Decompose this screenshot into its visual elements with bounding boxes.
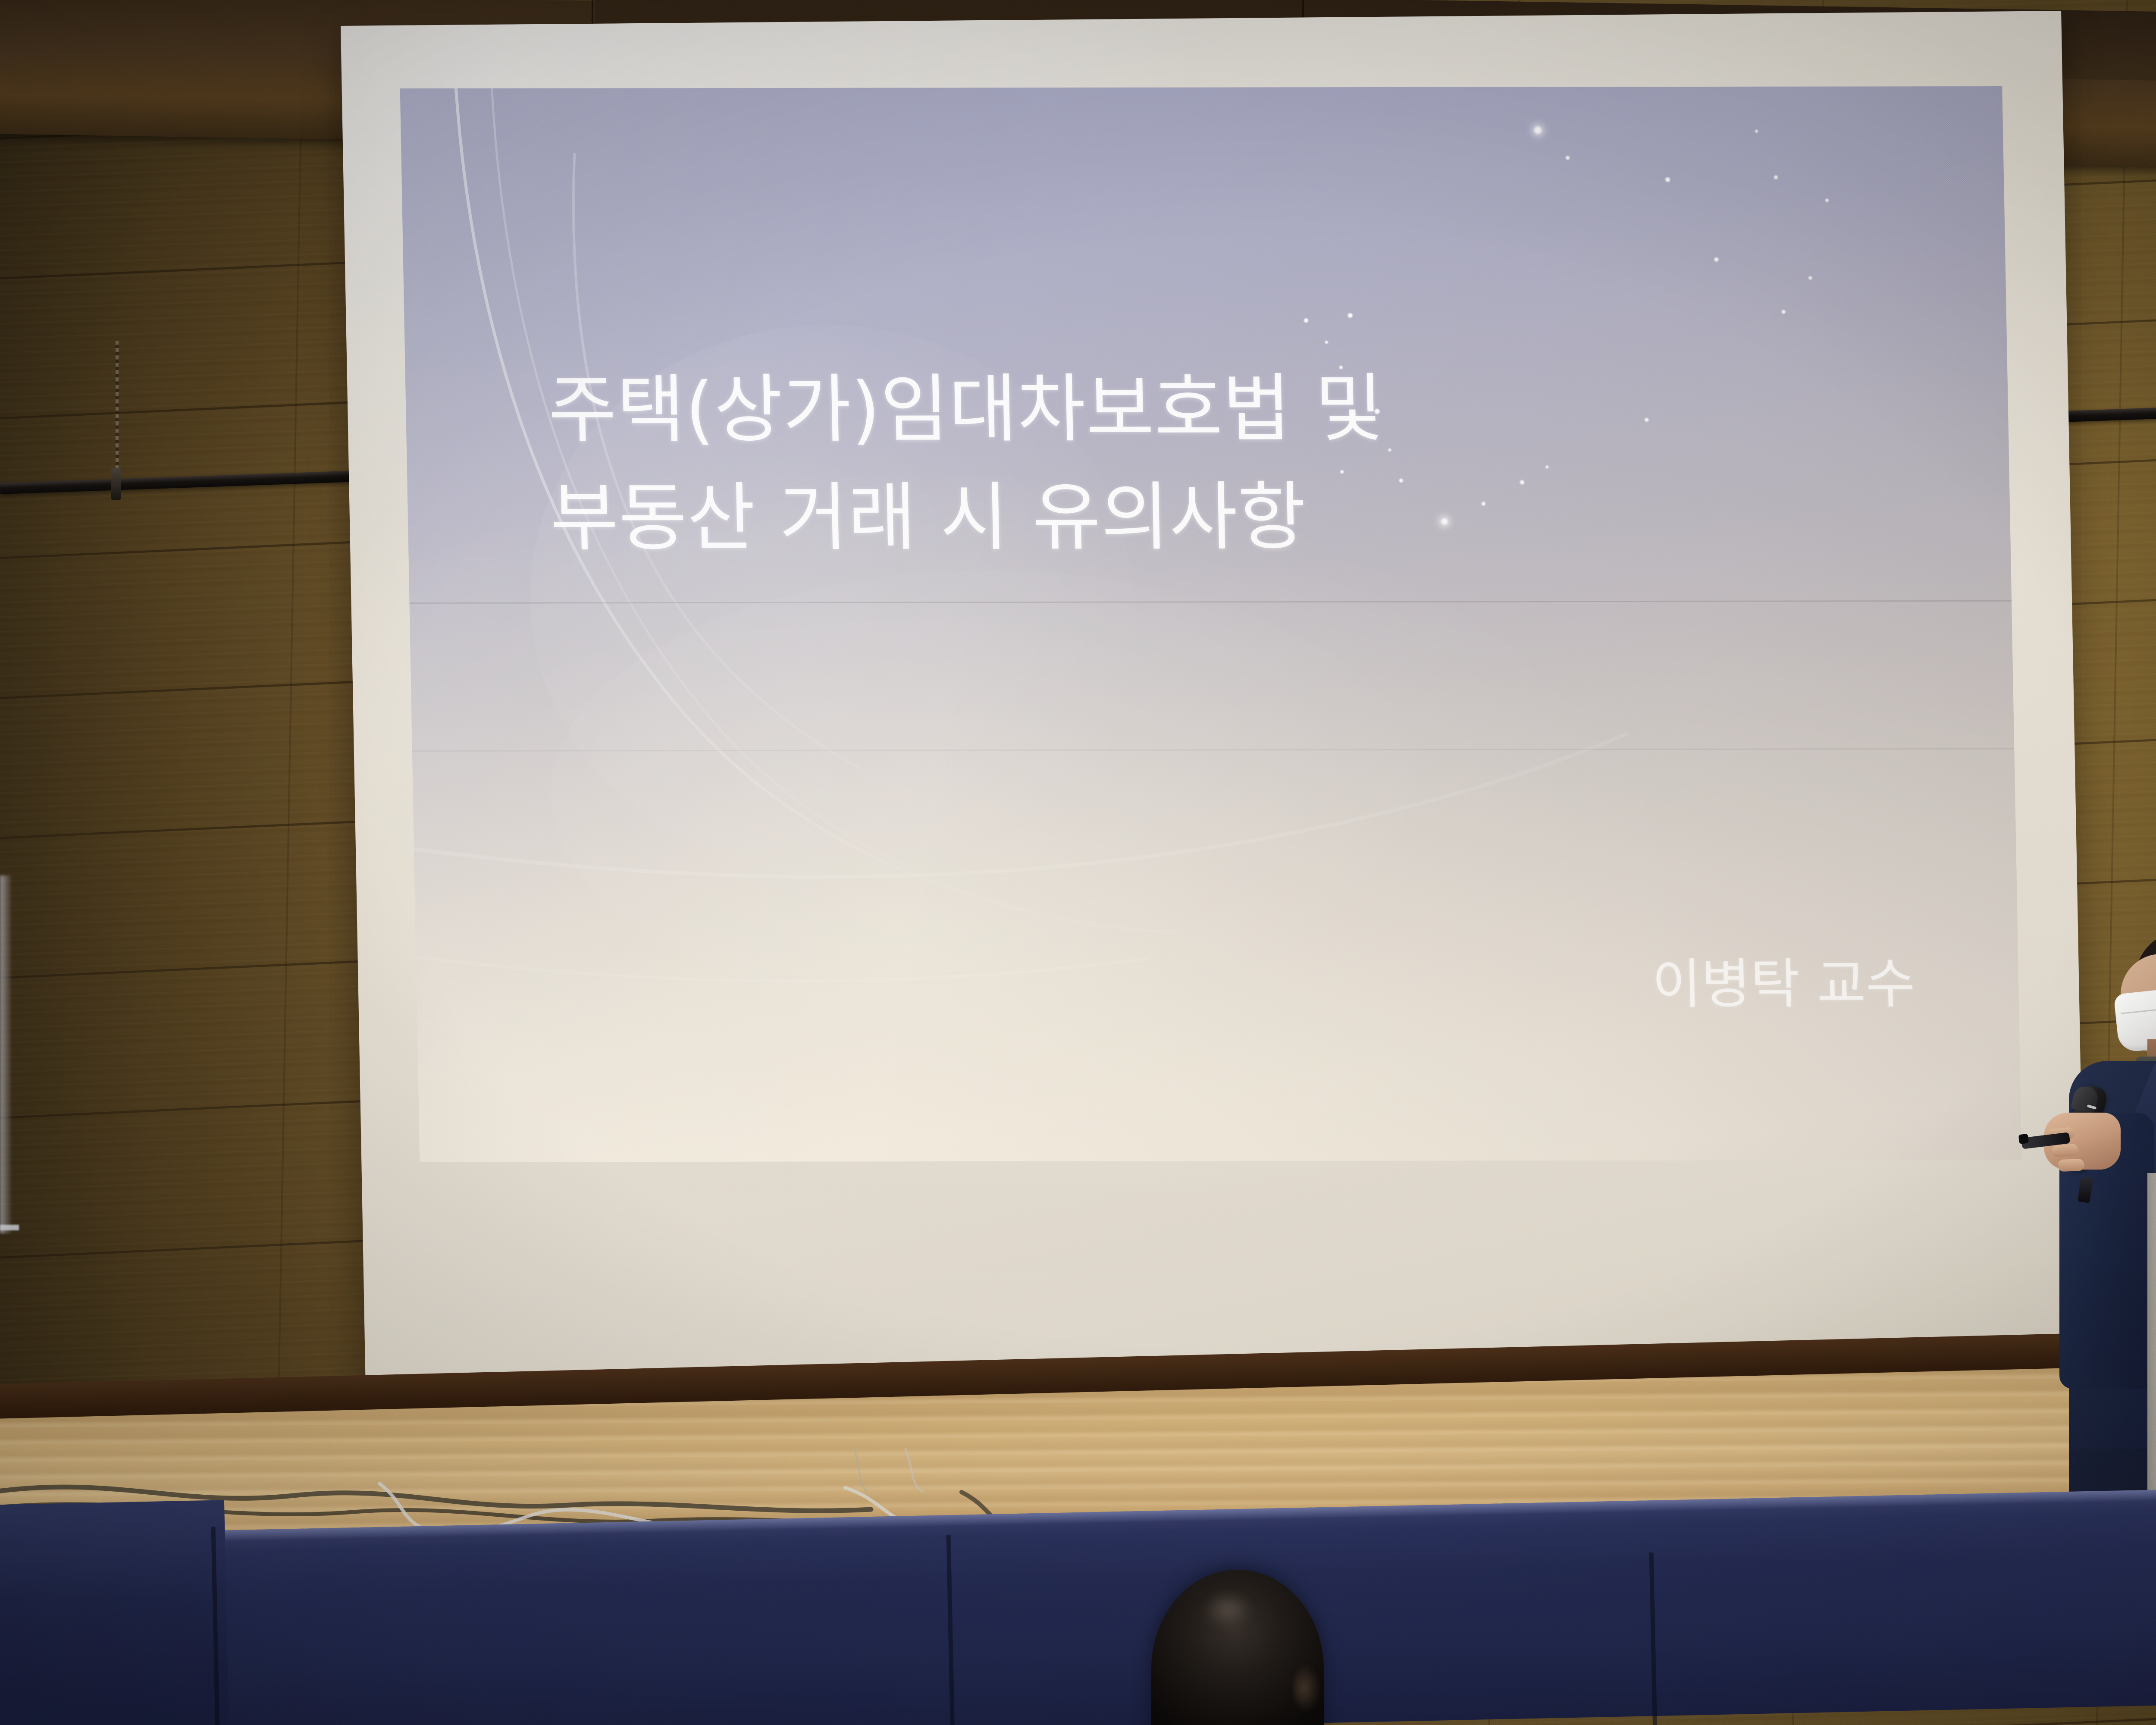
- audience-ear: [1294, 1665, 1320, 1712]
- clicker-tip: [2018, 1134, 2029, 1145]
- slide-presenter-credit: 이병탁 교수: [1651, 940, 1916, 1018]
- lecture-hall-scene: 주택(상가)임대차보호법 및 부동산 거래 시 유의사항 이병탁 교수: [0, 0, 2156, 1725]
- wall-shadow-line: [410, 600, 2012, 604]
- slide-title-block: 주택(상가)임대차보호법 및 부동산 거래 시 유의사항: [547, 354, 1759, 572]
- rail-bracket: [111, 468, 121, 500]
- navy-barrier-left-panel: [0, 1500, 229, 1725]
- slide-title-line-1: 주택(상가)임대차보호법 및: [547, 354, 1757, 464]
- left-edge-light-strip: [0, 875, 11, 1233]
- slide-title-line-2: 부동산 거래 시 유의사항: [549, 462, 1759, 572]
- rail-chain-icon: [116, 341, 119, 485]
- presenter-finger: [2058, 1159, 2085, 1172]
- wall-shadow-line: [412, 748, 2015, 752]
- audience-head-highlight: [1203, 1591, 1253, 1628]
- presenter-finger: [2051, 1144, 2079, 1157]
- projection-screen: 주택(상가)임대차보호법 및 부동산 거래 시 유의사항 이병탁 교수: [341, 11, 2087, 1440]
- projected-slide: 주택(상가)임대차보호법 및 부동산 거래 시 유의사항 이병탁 교수: [400, 86, 2022, 1162]
- left-wall-fixture: [0, 1225, 19, 1230]
